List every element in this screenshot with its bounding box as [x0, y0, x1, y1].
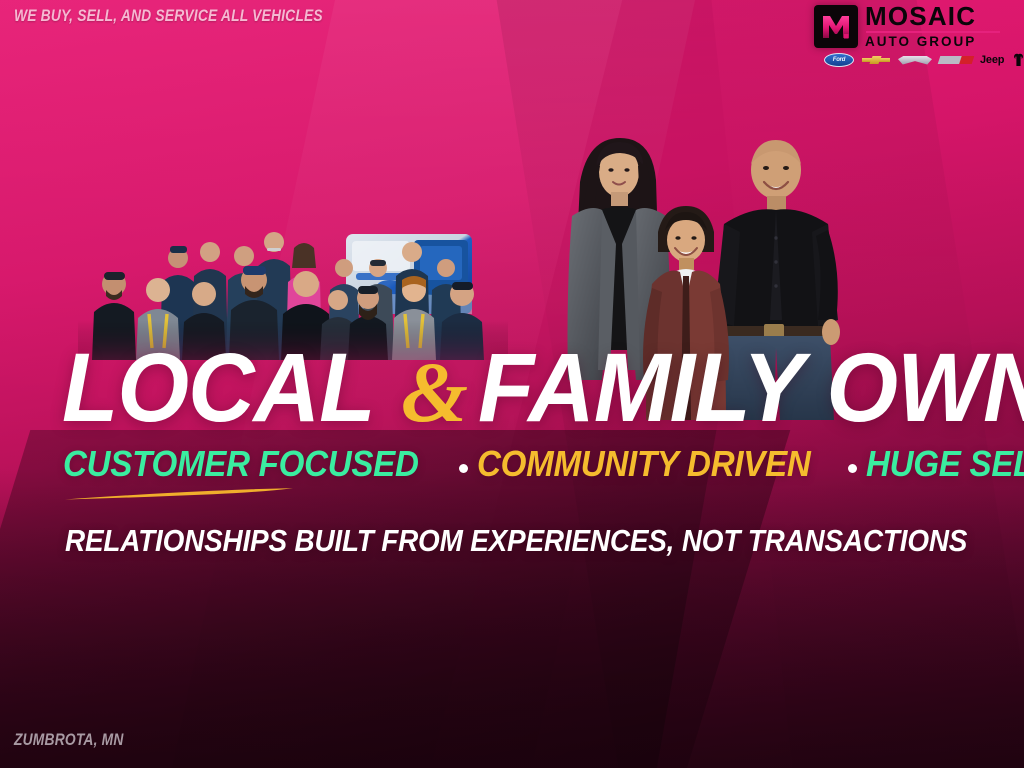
motto-text: RELATIONSHIPS BUILT FROM EXPERIENCES, NO… [65, 523, 967, 559]
logo-primary-row: MOSAIC AUTO GROUP [814, 4, 1010, 48]
logo-wordmark: MOSAIC AUTO GROUP [865, 3, 1000, 49]
headline-word-family-owned: FAMILY OWNED [478, 342, 1024, 434]
ford-logo-icon: Ford [824, 53, 854, 67]
dodge-logo-icon [939, 53, 973, 67]
gold-swoosh-accent [63, 486, 295, 502]
chrysler-logo-icon [898, 53, 932, 67]
ford-label: Ford [833, 57, 846, 63]
mosaic-m-icon [814, 5, 858, 48]
logo-subtitle: AUTO GROUP [865, 35, 1000, 49]
chevrolet-logo-icon [861, 53, 891, 67]
promo-banner: WE BUY, SELL, AND SERVICE ALL VEHICLES [0, 0, 1024, 768]
subhead-item-huge-selection: HUGE SELECTION [866, 444, 1024, 484]
jeep-logo-icon: Jeep [980, 53, 1004, 67]
brand-logo-strip: Ford Jeep [814, 52, 1010, 68]
top-tagline: WE BUY, SELL, AND SERVICE ALL VEHICLES [14, 7, 323, 26]
headline-word-local: LOCAL [62, 342, 375, 434]
subhead-item-customer-focused: CUSTOMER FOCUSED [63, 444, 419, 484]
brand-logo[interactable]: MOSAIC AUTO GROUP Ford Jeep [814, 4, 1010, 70]
subhead-bullet-1 [459, 464, 468, 473]
headline-ampersand: & [391, 346, 478, 438]
subhead-list: CUSTOMER FOCUSEDCOMMUNITY DRIVENHUGE SEL… [63, 444, 1024, 492]
headline: LOCAL&FAMILY OWNED [62, 342, 982, 434]
ram-logo-icon [1011, 53, 1024, 67]
location-label: ZUMBROTA, MN [14, 731, 124, 750]
logo-name: MOSAIC [865, 3, 1000, 29]
subhead-item-community-driven: COMMUNITY DRIVEN [477, 444, 811, 484]
logo-divider [866, 31, 1000, 33]
subhead-bullet-2 [848, 464, 857, 473]
